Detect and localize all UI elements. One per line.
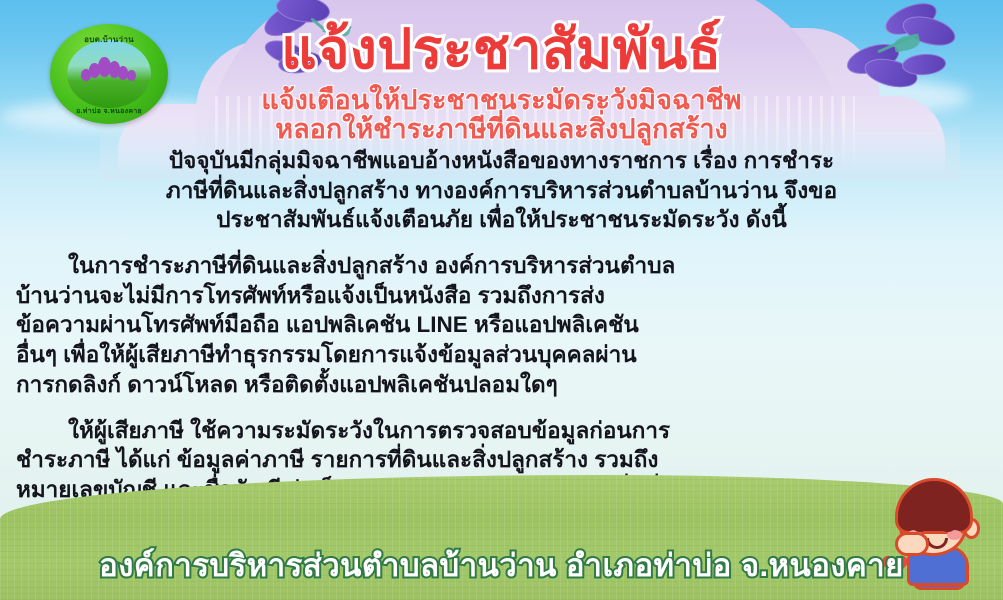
paragraph-line: ชำระภาษี ได้แก่ ข้อมูลค่าภาษี รายการที่ด…	[16, 445, 987, 475]
page-title-wrap: แจ้งประชาสัมพันธ์	[0, 0, 1003, 86]
mascot-hair	[895, 478, 973, 534]
paragraph-line: ประชาสัมพันธ์แจ้งเตือนภัย เพื่อให้ประชาช…	[16, 205, 987, 235]
paragraph-line: ปัจจุบันมีกลุ่มมิจฉาชีพแอบอ้างหนังสือของ…	[16, 146, 987, 176]
paragraph-line: ข้อความผ่านโทรศัพท์มือถือ แอปพลิเคชัน LI…	[16, 310, 987, 340]
subtitle-line-2: หลอกให้ชำระภาษีที่ดินและสิ่งปลูกสร้าง	[0, 115, 1003, 144]
paragraph-line: การกดลิงก์ ดาวน์โหลด หรือติดตั้งแอปพลิเค…	[16, 370, 987, 400]
paragraph-2: ในการชำระภาษีที่ดินและสิ่งปลูกสร้าง องค์…	[16, 251, 987, 399]
paragraph-line: อื่นๆ เพื่อให้ผู้เสียภาษีทำธุรกรรมโดยการ…	[16, 340, 987, 370]
page-subtitle: แจ้งเตือนให้ประชาชนระมัดระวังมิจฉาชีพ หล…	[0, 86, 1003, 143]
subtitle-line-1: แจ้งเตือนให้ประชาชนระมัดระวังมิจฉาชีพ	[0, 86, 1003, 115]
paragraph-line: ภาษีที่ดินและสิ่งปลูกสร้าง ทางองค์การบริ…	[16, 176, 987, 206]
announcement-poster: อบต.บ้านว่าน อ.ท่าบ่อ จ.หนองคาย แจ้งประช…	[0, 0, 1003, 600]
paragraph-line: บ้านว่านจะไม่มีการโทรศัพท์หรือแจ้งเป็นหน…	[16, 281, 987, 311]
paragraph-1: ปัจจุบันมีกลุ่มมิจฉาชีพแอบอ้างหนังสือของ…	[16, 146, 987, 235]
paragraph-line: ให้ผู้เสียภาษี ใช้ความระมัดระวังในการตรว…	[16, 416, 987, 446]
paragraph-line: ในการชำระภาษีที่ดินและสิ่งปลูกสร้าง องค์…	[16, 251, 987, 281]
footer-organization-name: องค์การบริหารส่วนตำบลบ้านว่าน อำเภอท่าบ่…	[0, 540, 1003, 590]
page-title: แจ้งประชาสัมพันธ์	[0, 22, 1003, 77]
